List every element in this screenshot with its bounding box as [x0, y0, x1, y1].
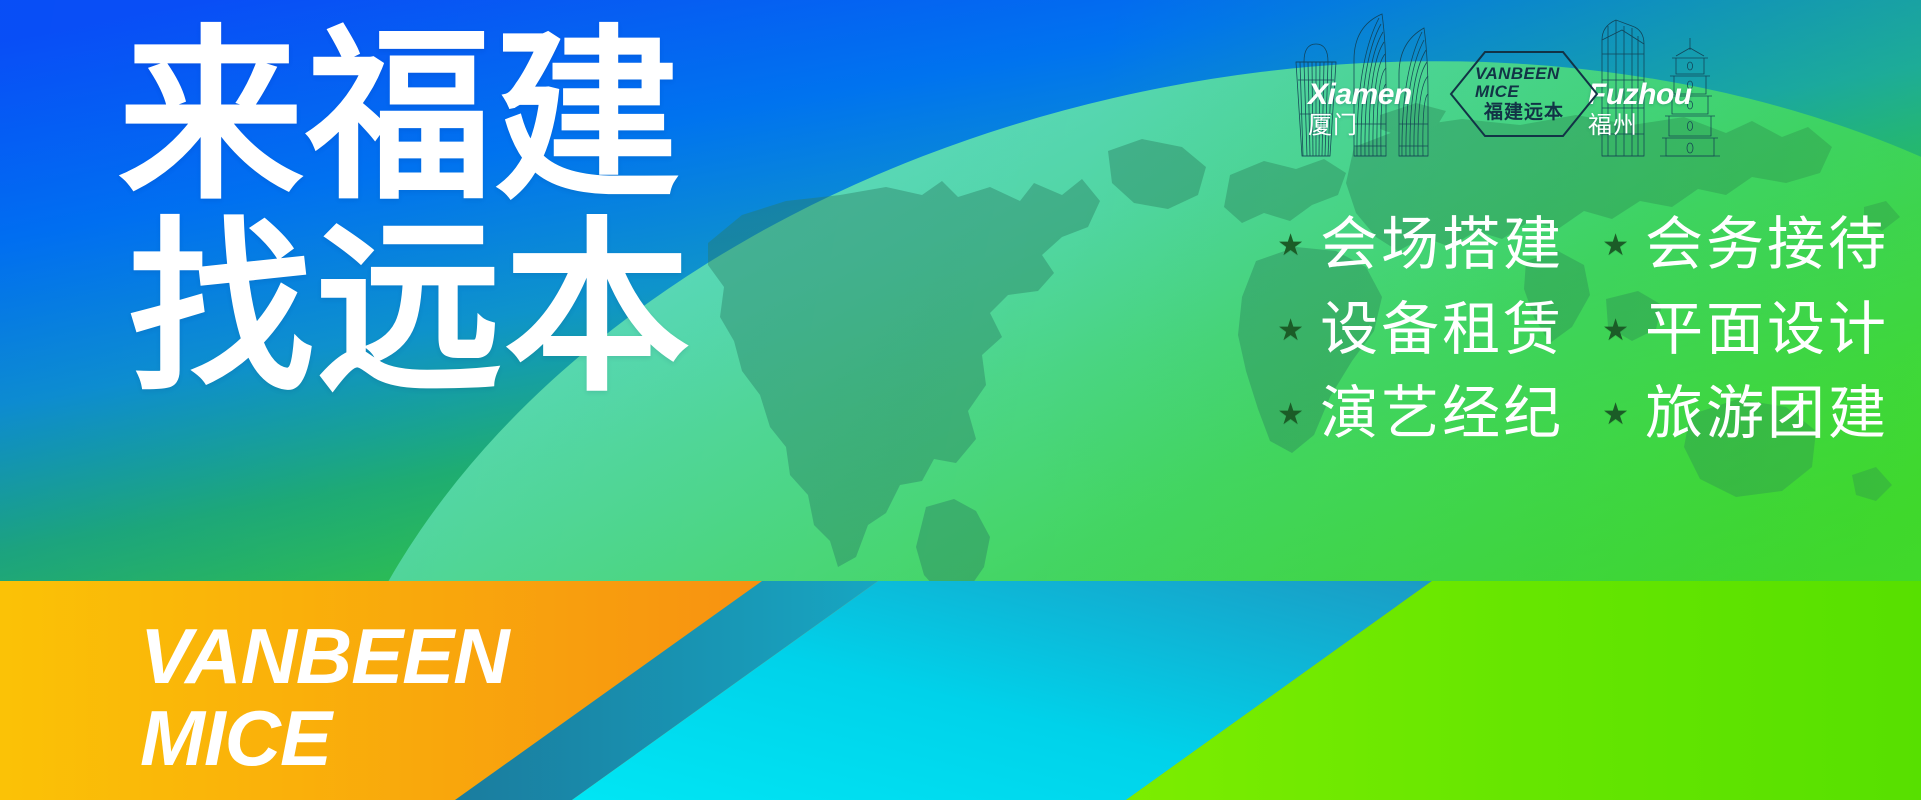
- promotional-banner: 来福建 找远本 ★ 会场搭建 ★ 会务接待 ★ 设备租赁 ★ 平面设计 ★: [0, 0, 1921, 800]
- service-item-1[interactable]: ★ 会场搭建: [1277, 206, 1564, 283]
- city-name-en: Fuzhou: [1588, 80, 1692, 110]
- banner-main-area: 来福建 找远本 ★ 会场搭建 ★ 会务接待 ★ 设备租赁 ★ 平面设计 ★: [0, 0, 1921, 581]
- service-label: 会场搭建: [1320, 206, 1564, 283]
- city-name-cn: 福州: [1588, 113, 1692, 137]
- service-list: ★ 会场搭建 ★ 会务接待 ★ 设备租赁 ★ 平面设计 ★ 演艺经纪 ★ 旅游团…: [1277, 206, 1889, 452]
- city-name-en: Xiamen: [1308, 80, 1412, 110]
- city-logo-cluster: VANBEEN MICE 福建远本 Xiamen 厦门 Fuzhou 福州: [1294, 4, 1774, 174]
- service-item-3[interactable]: ★ 设备租赁: [1277, 291, 1564, 368]
- city-label-fuzhou: Fuzhou 福州: [1588, 80, 1692, 137]
- hex-brand-line-2: MICE: [1449, 83, 1599, 101]
- service-item-2[interactable]: ★ 会务接待: [1602, 206, 1889, 283]
- headline-line-2: 找远本: [128, 218, 692, 400]
- star-icon: ★: [1602, 400, 1629, 430]
- vanbeen-hexagon-logo[interactable]: VANBEEN MICE 福建远本: [1449, 50, 1599, 138]
- star-icon: ★: [1277, 316, 1304, 346]
- star-icon: ★: [1602, 231, 1629, 261]
- service-label: 会务接待: [1645, 206, 1889, 283]
- banner-headline: 来福建 找远本: [118, 26, 692, 401]
- service-item-4[interactable]: ★ 平面设计: [1602, 291, 1889, 368]
- city-label-xiamen: Xiamen 厦门: [1308, 80, 1412, 137]
- service-label: 旅游团建: [1645, 375, 1889, 452]
- star-icon: ★: [1277, 400, 1304, 430]
- vanbeen-mice-wordmark: VANBEEN MICE: [140, 619, 509, 776]
- star-icon: ★: [1602, 316, 1629, 346]
- hex-brand-chinese: 福建远本: [1484, 103, 1564, 123]
- service-item-5[interactable]: ★ 演艺经纪: [1277, 375, 1564, 452]
- star-icon: ★: [1277, 231, 1304, 261]
- banner-bottom-bar: VANBEEN MICE: [0, 581, 1921, 800]
- brand-line-2: MICE: [140, 701, 509, 777]
- service-item-6[interactable]: ★ 旅游团建: [1602, 375, 1889, 452]
- hex-brand-line-1: VANBEEN: [1449, 65, 1599, 83]
- service-label: 平面设计: [1645, 291, 1889, 368]
- headline-line-1: 来福建: [118, 26, 692, 208]
- brand-line-1: VANBEEN: [140, 619, 509, 695]
- city-name-cn: 厦门: [1308, 113, 1412, 137]
- service-label: 演艺经纪: [1320, 375, 1564, 452]
- service-label: 设备租赁: [1320, 291, 1564, 368]
